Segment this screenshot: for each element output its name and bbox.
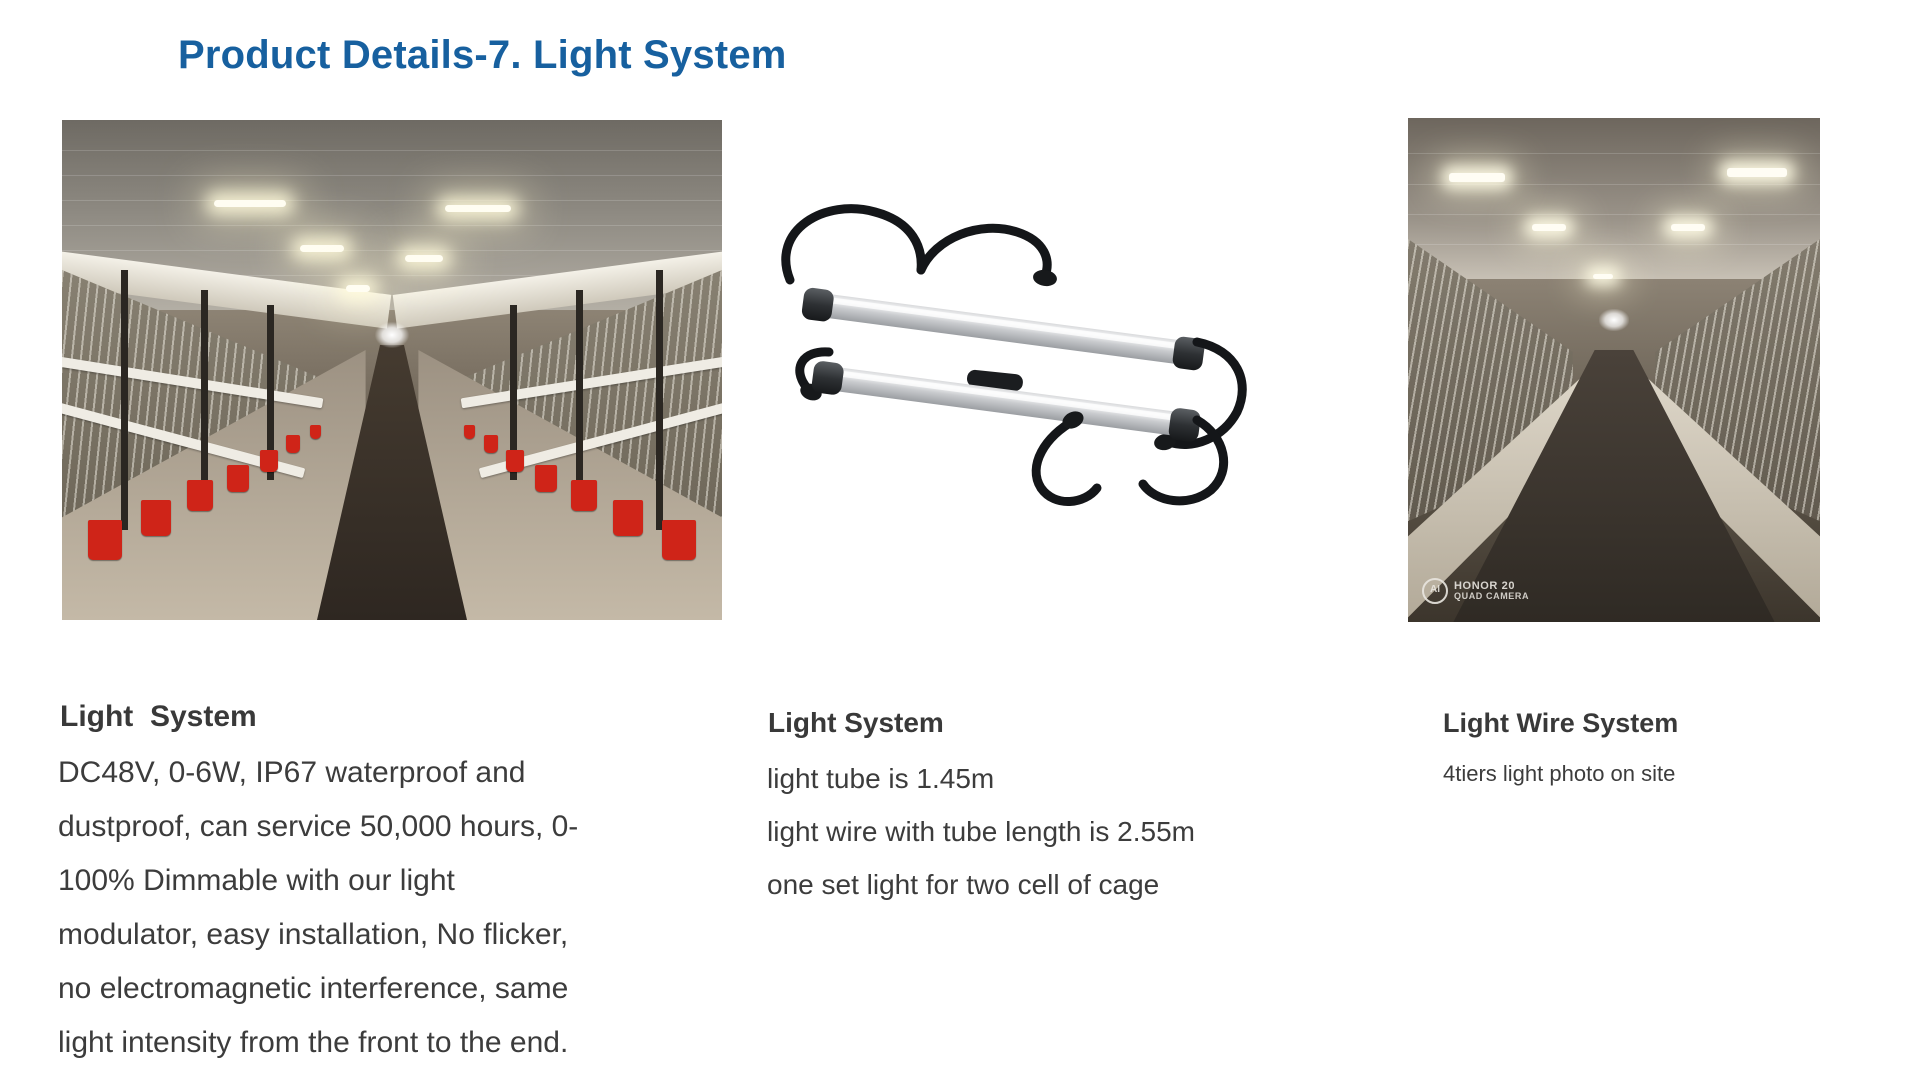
honor-camera-watermark: AI HONOR 20 QUAD CAMERA xyxy=(1422,578,1529,604)
poultry-house-interior-photo xyxy=(62,120,722,620)
four-tier-light-on-site-photo: AI HONOR 20 QUAD CAMERA xyxy=(1408,118,1820,622)
caption-heading-left: Light System xyxy=(60,700,257,734)
caption-body-right: 4tiers light photo on site xyxy=(1443,757,1843,791)
page-title: Product Details-7. Light System xyxy=(178,33,787,78)
ai-badge-icon: AI xyxy=(1422,578,1448,604)
vanishing-point-glow xyxy=(1599,309,1629,331)
caption-body-left: DC48V, 0-6W, IP67 waterproof and dustpro… xyxy=(58,746,778,1070)
led-tube-illustration xyxy=(745,120,1405,620)
ceiling-region xyxy=(1408,118,1820,289)
led-light-tube-product-photo xyxy=(745,120,1405,620)
caption-heading-right: Light Wire System xyxy=(1443,708,1678,739)
caption-body-middle: light tube is 1.45m light wire with tube… xyxy=(767,752,1427,911)
vanishing-point-glow xyxy=(375,322,409,348)
caption-heading-middle: Light System xyxy=(768,707,944,739)
watermark-line-2: QUAD CAMERA xyxy=(1454,592,1529,601)
slide-canvas: Product Details-7. Light System xyxy=(0,0,1920,1079)
